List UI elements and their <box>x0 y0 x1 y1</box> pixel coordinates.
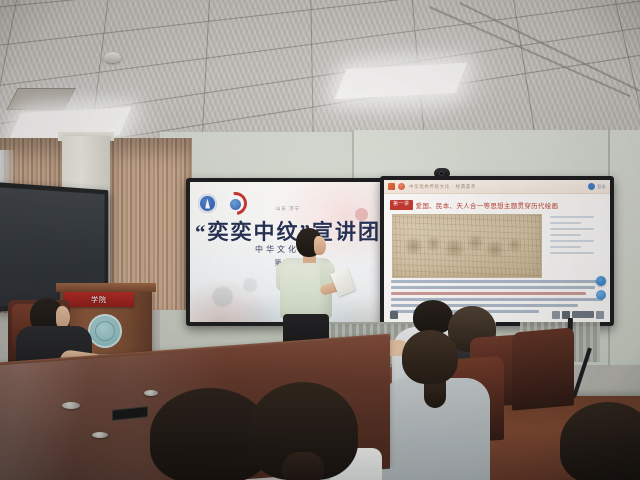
banner-subtitle: 中华文化宣讲 <box>190 244 386 255</box>
attendee-face <box>56 306 70 328</box>
account-area[interactable]: 登录 <box>588 183 606 190</box>
podium-sign-text: 学院 <box>91 295 107 305</box>
school-emblem-icon <box>88 314 122 348</box>
browser-topbar: 中华优秀传统文化 · 经典荟萃 登录 <box>384 180 610 194</box>
share-button-icon[interactable] <box>596 276 606 286</box>
sidebar-line <box>550 222 581 224</box>
body-text-line <box>391 292 586 295</box>
microphone-base <box>92 432 108 438</box>
sidebar-line <box>550 228 594 230</box>
tool-1-icon[interactable] <box>390 311 398 319</box>
banner-title: “奕奕中纹”宣讲团 <box>190 216 386 246</box>
site-logo-secondary-icon <box>398 183 405 190</box>
article-headline: 第一讲 爱国、民本、天人合一等思想主题贯穿历代绘画 <box>390 199 602 210</box>
banner-seal-icon <box>355 208 368 221</box>
sidebar-line <box>550 216 594 218</box>
headline-text: 爱国、民本、天人合一等思想主题贯穿历代绘画 <box>416 200 559 210</box>
sidebar-line <box>550 252 594 254</box>
microphone-base <box>62 402 80 409</box>
tool-4-icon[interactable] <box>572 311 594 318</box>
scroll-ink-figures <box>397 219 537 273</box>
sidebar-line <box>550 234 581 236</box>
web-article-screen[interactable]: 中华优秀传统文化 · 经典荟萃 登录 第一讲 爱国、民本、天人合一等思想主题贯穿… <box>380 176 614 326</box>
auditorium-chair <box>512 327 574 410</box>
user-badge-icon <box>588 183 595 190</box>
account-label: 登录 <box>597 184 606 190</box>
web-page: 中华优秀传统文化 · 经典荟萃 登录 第一讲 爱国、民本、天人合一等思想主题贯穿… <box>384 180 610 322</box>
headline-tag: 第一讲 <box>390 200 413 210</box>
podium-top-surface <box>56 283 156 292</box>
tool-5-icon[interactable] <box>596 311 604 319</box>
sidebar-line <box>550 246 581 248</box>
microphone-base <box>144 390 158 396</box>
ancient-scroll-painting <box>392 214 542 278</box>
presenter-face <box>314 236 326 255</box>
audience-hair <box>413 300 453 334</box>
podium-sign: 学院 <box>64 292 134 307</box>
smoke-detector-icon <box>104 52 121 63</box>
article-sidebar <box>550 216 602 258</box>
top-button-icon[interactable] <box>596 290 606 300</box>
audience-hair <box>402 330 458 384</box>
photo-scene: 山东 济宁 “奕奕中纹”宣讲团 中华文化宣讲 第一讲 中华优秀传统文化 · 经典… <box>0 0 640 480</box>
tool-2-icon[interactable] <box>552 311 560 319</box>
body-text-line <box>391 280 603 283</box>
sidebar-line <box>550 240 594 242</box>
site-logo-icon <box>388 183 395 190</box>
site-title: 中华优秀传统文化 · 经典荟萃 <box>409 184 476 190</box>
right-screen-content: 中华优秀传统文化 · 经典荟萃 登录 第一讲 爱国、民本、天人合一等思想主题贯穿… <box>384 180 610 322</box>
body-text-line <box>391 298 603 301</box>
foreground-attendee-2-ponytail <box>282 452 324 480</box>
body-text-line <box>391 286 595 289</box>
